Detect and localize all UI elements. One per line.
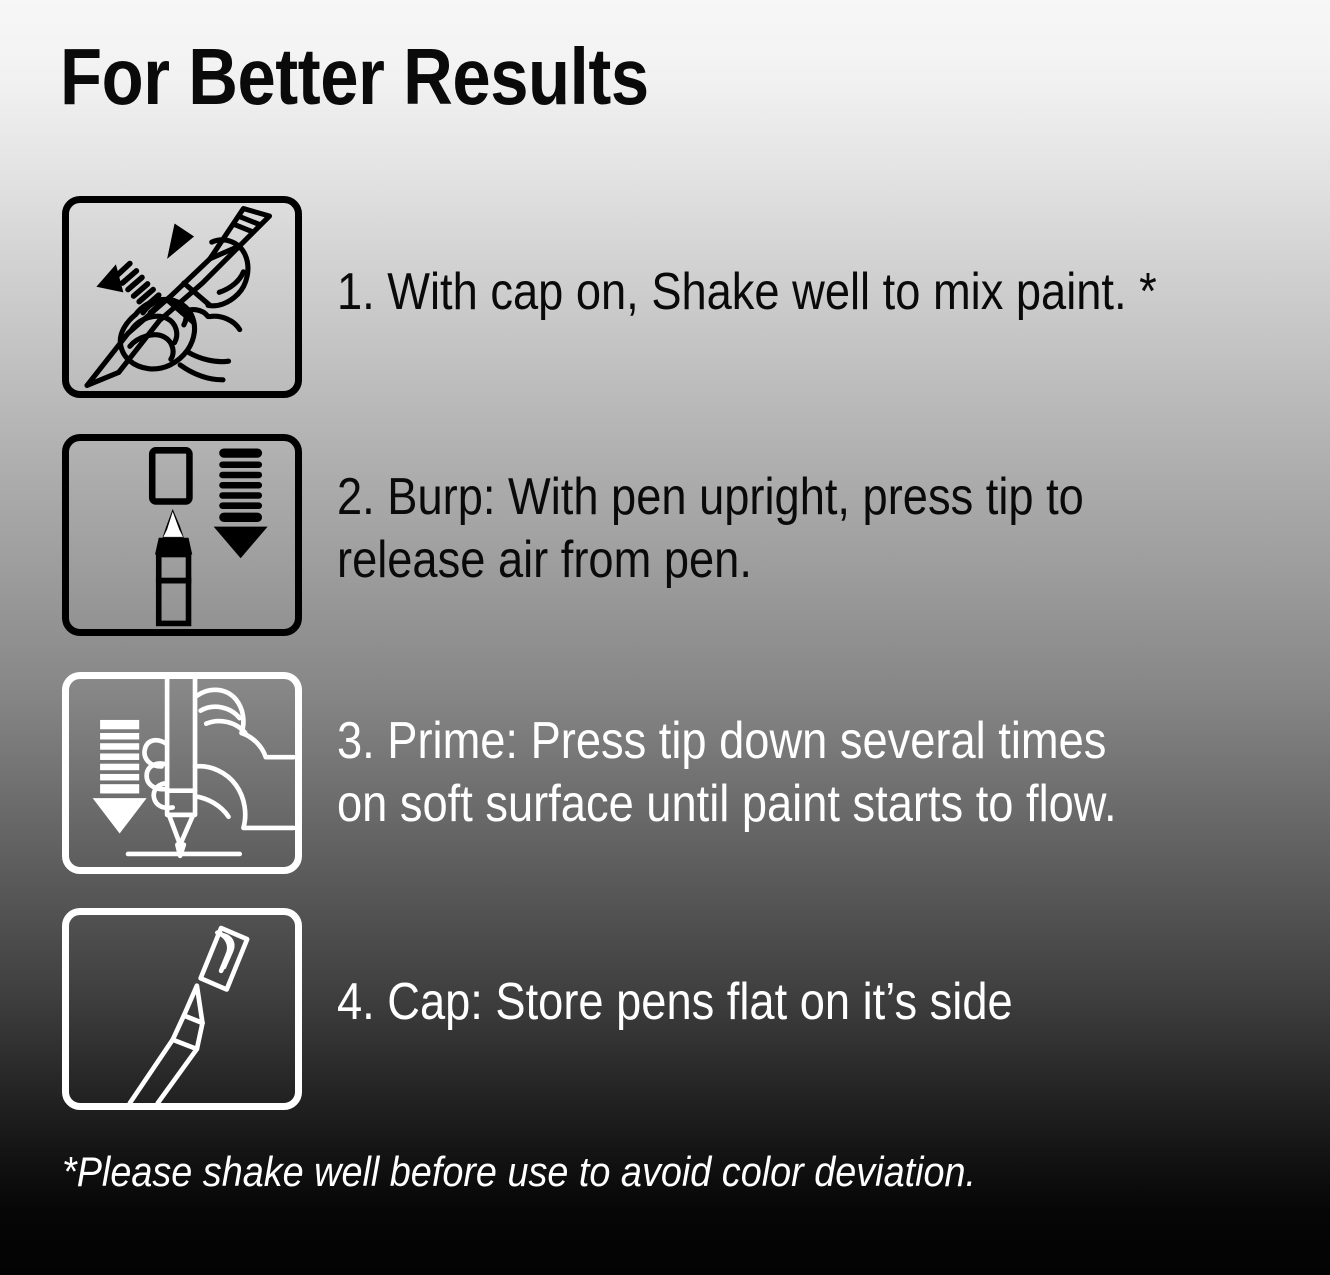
prime-press-tip-hand-down-arrow-icon: [69, 679, 295, 867]
step-1-line-1: 1. With cap on, Shake well to mix paint.…: [337, 261, 1157, 324]
cap-pen-store-flat-icon: [69, 915, 295, 1103]
icon-box-prime: [62, 672, 302, 874]
shake-pen-with-cap-icon: [69, 203, 295, 391]
step-1-text: 1. With cap on, Shake well to mix paint.…: [337, 261, 1157, 324]
step-2-text: 2. Burp: With pen upright, press tip to …: [337, 466, 1084, 593]
icon-box-shake: [62, 196, 302, 398]
step-3-line-2: on soft surface until paint starts to fl…: [337, 773, 1117, 836]
step-3-text: 3. Prime: Press tip down several times o…: [337, 710, 1117, 837]
icon-box-burp: [62, 434, 302, 636]
step-3-line-1: 3. Prime: Press tip down several times: [337, 710, 1117, 773]
icon-box-cap: [62, 908, 302, 1110]
step-2-line-2: release air from pen.: [337, 529, 1084, 592]
instruction-graphic: For Better Results: [0, 0, 1330, 1275]
step-4-text: 4. Cap: Store pens flat on it’s side: [337, 971, 1013, 1034]
footnote: *Please shake well before use to avoid c…: [62, 1147, 976, 1197]
step-2-line-1: 2. Burp: With pen upright, press tip to: [337, 466, 1084, 529]
burp-pen-upright-down-arrow-icon: [69, 441, 295, 629]
step-4-line-1: 4. Cap: Store pens flat on it’s side: [337, 971, 1013, 1034]
page-title: For Better Results: [60, 37, 649, 117]
